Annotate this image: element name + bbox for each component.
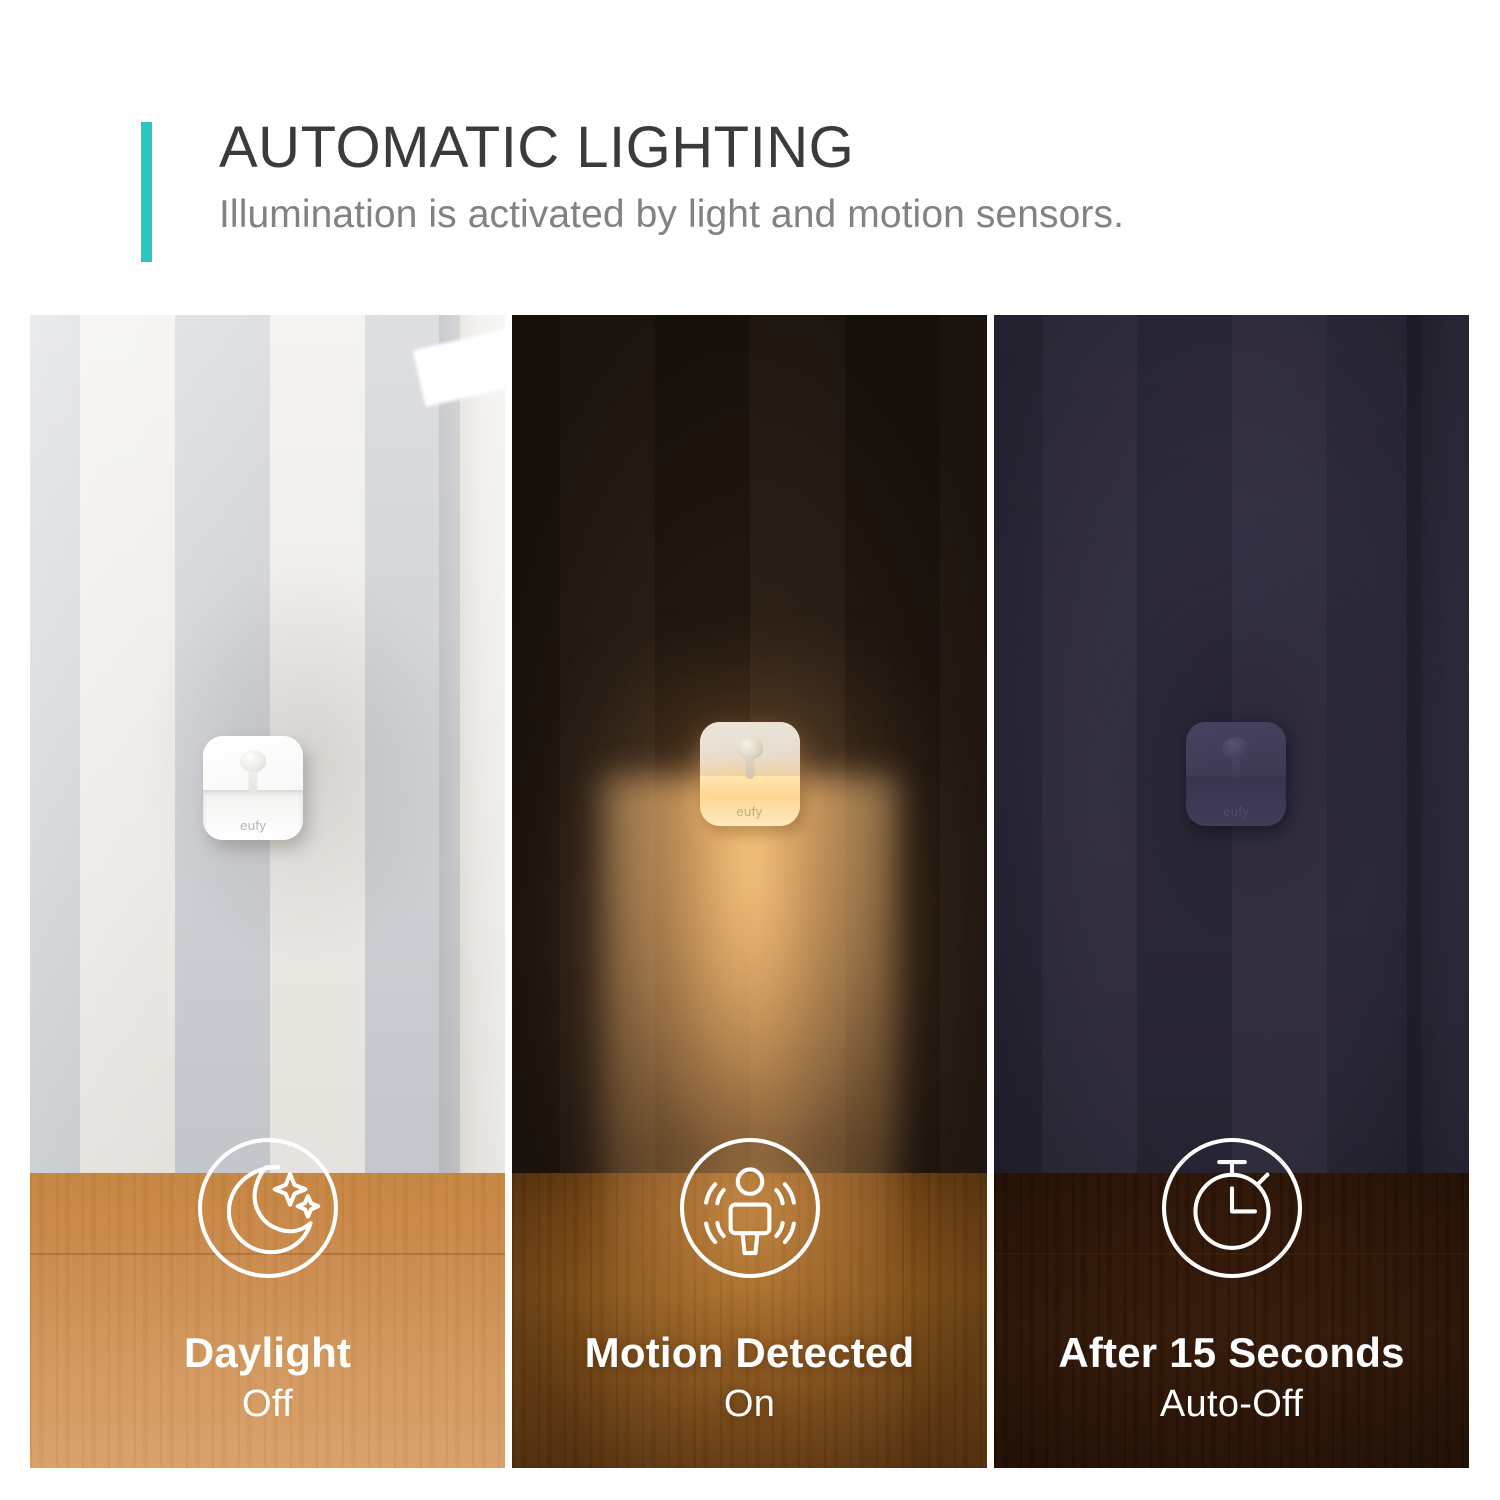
- header-text-block: AUTOMATIC LIGHTING Illumination is activ…: [219, 118, 1459, 238]
- pir-sensor-dome: [240, 750, 266, 772]
- header: AUTOMATIC LIGHTING Illumination is activ…: [141, 118, 1461, 278]
- page-title: AUTOMATIC LIGHTING: [219, 118, 1459, 177]
- product-feature-graphic: AUTOMATIC LIGHTING Illumination is activ…: [0, 0, 1500, 1500]
- caption-motion-detected: Motion Detected On: [512, 1123, 987, 1426]
- night-light-device-off: eufy: [203, 736, 303, 840]
- wall-corner: [439, 315, 506, 1173]
- caption-daylight: Daylight Off: [30, 1123, 505, 1426]
- page-subtitle: Illumination is activated by light and m…: [219, 193, 1459, 238]
- caption-subtitle: On: [512, 1384, 987, 1426]
- caption-subtitle: Off: [30, 1384, 505, 1426]
- caption-title: Daylight: [30, 1329, 505, 1376]
- moon-stars-icon: [183, 1123, 353, 1293]
- motion-sensor-person-icon: [665, 1123, 835, 1293]
- device-brand-label: eufy: [240, 818, 266, 833]
- device-body: eufy: [203, 736, 303, 840]
- panel-strip: eufy Daylight Off: [30, 315, 1469, 1468]
- accent-bar: [141, 122, 152, 262]
- caption-after-15-seconds: After 15 Seconds Auto-Off: [994, 1123, 1469, 1426]
- caption-title: Motion Detected: [512, 1329, 987, 1376]
- panel-daylight: eufy Daylight Off: [30, 315, 505, 1468]
- stopwatch-icon: [1147, 1123, 1317, 1293]
- panel-after-15-seconds: eufy After 15 Seconds Auto-Off: [994, 315, 1469, 1468]
- panel-motion-detected: eufy: [512, 315, 987, 1468]
- caption-title: After 15 Seconds: [994, 1329, 1469, 1376]
- caption-subtitle: Auto-Off: [994, 1384, 1469, 1426]
